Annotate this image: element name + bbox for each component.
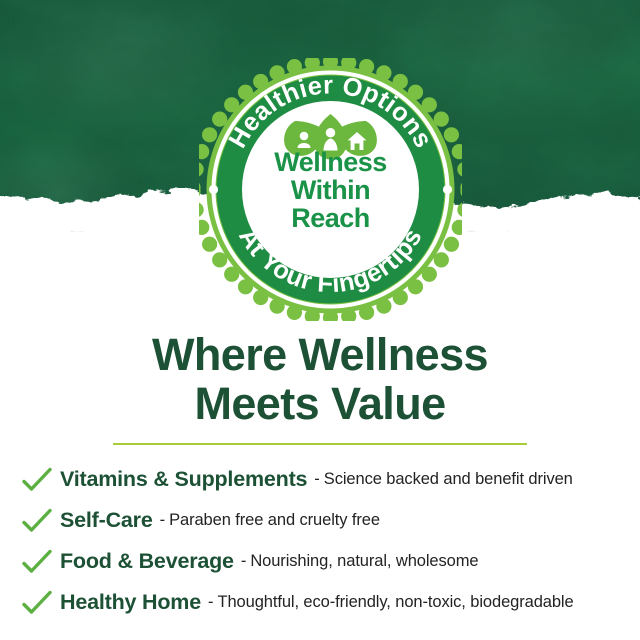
badge-dot-left bbox=[209, 185, 218, 194]
feature-description: Thoughtful, eco-friendly, non-toxic, bio… bbox=[217, 593, 573, 612]
badge-center-line-1: Wellness bbox=[274, 147, 387, 177]
check-icon bbox=[22, 467, 52, 493]
badge-center-line-3: Reach bbox=[291, 203, 370, 233]
feature-separator: - bbox=[234, 552, 251, 571]
badge-center-line-2: Within bbox=[291, 175, 370, 205]
feature-separator: - bbox=[153, 511, 170, 530]
feature-title: Vitamins & Supplements bbox=[60, 467, 307, 492]
feature-title: Self-Care bbox=[60, 508, 153, 533]
list-item: Food & Beverage - Nourishing, natural, w… bbox=[22, 541, 640, 582]
feature-description: Paraben free and cruelty free bbox=[169, 511, 380, 530]
page-title: Where Wellness Meets Value bbox=[0, 330, 640, 428]
feature-list: Vitamins & Supplements - Science backed … bbox=[22, 459, 640, 623]
list-item: Vitamins & Supplements - Science backed … bbox=[22, 459, 640, 500]
feature-title: Food & Beverage bbox=[60, 549, 234, 574]
feature-description: Nourishing, natural, wholesome bbox=[250, 552, 478, 571]
wellness-badge: Healthier Options At Your Fingertips bbox=[199, 58, 462, 321]
feature-separator: - bbox=[201, 593, 218, 612]
feature-separator: - bbox=[307, 470, 324, 489]
check-icon bbox=[22, 590, 52, 616]
check-icon bbox=[22, 508, 52, 534]
feature-description: Science backed and benefit driven bbox=[324, 470, 573, 489]
feature-title: Healthy Home bbox=[60, 590, 201, 615]
divider-rule bbox=[113, 443, 527, 445]
headline-line-1: Where Wellness bbox=[0, 330, 640, 379]
badge-dot-right bbox=[443, 185, 452, 194]
promo-poster: Healthier Options At Your Fingertips bbox=[0, 0, 640, 640]
list-item: Healthy Home - Thoughtful, eco-friendly,… bbox=[22, 582, 640, 623]
check-icon bbox=[22, 549, 52, 575]
headline-line-2: Meets Value bbox=[0, 379, 640, 428]
list-item: Self-Care - Paraben free and cruelty fre… bbox=[22, 500, 640, 541]
